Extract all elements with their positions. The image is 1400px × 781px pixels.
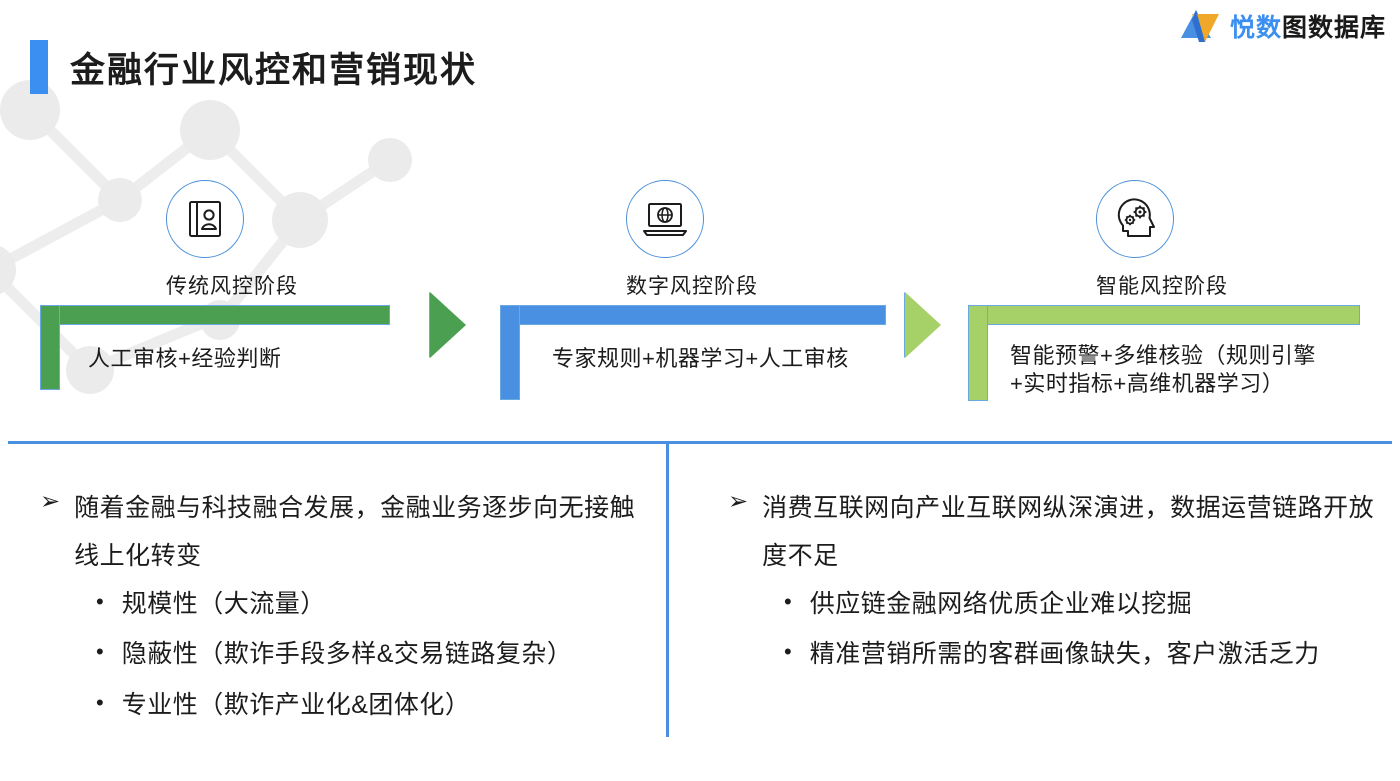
brand-name-rest: 图数据库 (1282, 8, 1386, 44)
stage-1-bracket-top (40, 305, 390, 325)
bullet-column-left: ➢ 随着金融与科技融合发展，金融业务逐步向无接触线上化转变 • 规模性（大流量）… (40, 485, 640, 737)
title-accent-bar (30, 40, 48, 94)
list-item: • 专业性（欺诈产业化&团体化） (96, 687, 640, 723)
brand-name-accent: 悦数 (1230, 8, 1282, 44)
page-title: 金融行业风控和营销现状 (70, 42, 477, 93)
list-item: • 规模性（大流量） (96, 586, 640, 622)
bullet-arrow-marker-icon: ➢ (40, 485, 60, 519)
bullet-main-text: 随着金融与科技融合发展，金融业务逐步向无接触线上化转变 (74, 485, 640, 580)
bullet-dot-marker-icon: • (96, 687, 104, 719)
yueshu-triangle-logo-icon (1178, 6, 1222, 46)
bullet-dot-marker-icon: • (784, 636, 792, 668)
stage-arrow-1 (430, 292, 466, 358)
stage-2-icon-circle (626, 180, 704, 258)
bullet-column-right: ➢ 消费互联网向产业互联网纵深演进，数据运营链路开放度不足 • 供应链金融网络优… (728, 485, 1388, 687)
bullet-dot-marker-icon: • (96, 636, 104, 668)
bullet-arrow-marker-icon: ➢ (728, 485, 748, 519)
stage-1-caption: 传统风控阶段 (166, 270, 298, 300)
list-item: • 供应链金融网络优质企业难以挖掘 (784, 586, 1388, 622)
stage-1-bracket-left (40, 305, 60, 390)
bullet-sub-text: 规模性（大流量） (122, 586, 326, 622)
stage-3-icon-circle (1096, 180, 1174, 258)
stage-1-body: 人工审核+经验判断 (88, 345, 408, 373)
brand-name: 悦数 图数据库 (1230, 8, 1386, 44)
stage-2-body: 专家规则+机器学习+人工审核 (552, 345, 902, 373)
stage-1-icon-group: 传统风控阶段 (166, 180, 298, 300)
brand-logo: 悦数 图数据库 (1178, 6, 1386, 46)
bullet-sub-list: • 供应链金融网络优质企业难以挖掘 • 精准营销所需的客群画像缺失，客户激活乏力 (728, 586, 1388, 673)
stage-2-icon-group: 数字风控阶段 (626, 180, 758, 300)
vertical-divider (666, 441, 669, 737)
stage-3-body: 智能预警+多维核验（规则引擎 +实时指标+高维机器学习） (1010, 342, 1390, 398)
stage-2-bracket-left (500, 305, 520, 400)
slide-root: 悦数 图数据库 金融行业风控和营销现状 传统风控阶段 人工审核+经 (0, 0, 1400, 781)
stage-3-bracket-top (968, 305, 1360, 325)
bullet-sub-text: 专业性（欺诈产业化&团体化） (122, 687, 471, 723)
list-item: • 精准营销所需的客群画像缺失，客户激活乏力 (784, 636, 1388, 672)
list-item: • 隐蔽性（欺诈手段多样&交易链路复杂） (96, 636, 640, 672)
stage-2-caption: 数字风控阶段 (626, 270, 758, 300)
bullet-sub-text: 隐蔽性（欺诈手段多样&交易链路复杂） (122, 636, 573, 672)
stage-3-bracket-left (968, 305, 988, 401)
stages-section: 传统风控阶段 人工审核+经验判断 数字风控阶段 (0, 170, 1400, 420)
bullet-dot-marker-icon: • (784, 586, 792, 618)
stage-3-caption: 智能风控阶段 (1096, 270, 1228, 300)
stage-2-bracket-top (500, 305, 886, 325)
bullet-main: ➢ 随着金融与科技融合发展，金融业务逐步向无接触线上化转变 (40, 485, 640, 580)
ledger-person-icon (184, 198, 226, 240)
horizontal-divider (8, 441, 1392, 444)
bullet-sub-text: 精准营销所需的客群画像缺失，客户激活乏力 (810, 636, 1320, 672)
bullet-sub-text: 供应链金融网络优质企业难以挖掘 (810, 586, 1193, 622)
stage-arrow-2 (905, 292, 941, 358)
bullet-sub-list: • 规模性（大流量） • 隐蔽性（欺诈手段多样&交易链路复杂） • 专业性（欺诈… (40, 586, 640, 723)
page-title-row: 金融行业风控和营销现状 (30, 40, 477, 94)
stage-1-icon-circle (166, 180, 244, 258)
laptop-globe-icon (642, 199, 688, 239)
bullet-main: ➢ 消费互联网向产业互联网纵深演进，数据运营链路开放度不足 (728, 485, 1388, 580)
bullet-main-text: 消费互联网向产业互联网纵深演进，数据运营链路开放度不足 (762, 485, 1388, 580)
bullet-dot-marker-icon: • (96, 586, 104, 618)
stage-3-icon-group: 智能风控阶段 (1096, 180, 1228, 300)
head-gears-icon (1112, 198, 1158, 240)
